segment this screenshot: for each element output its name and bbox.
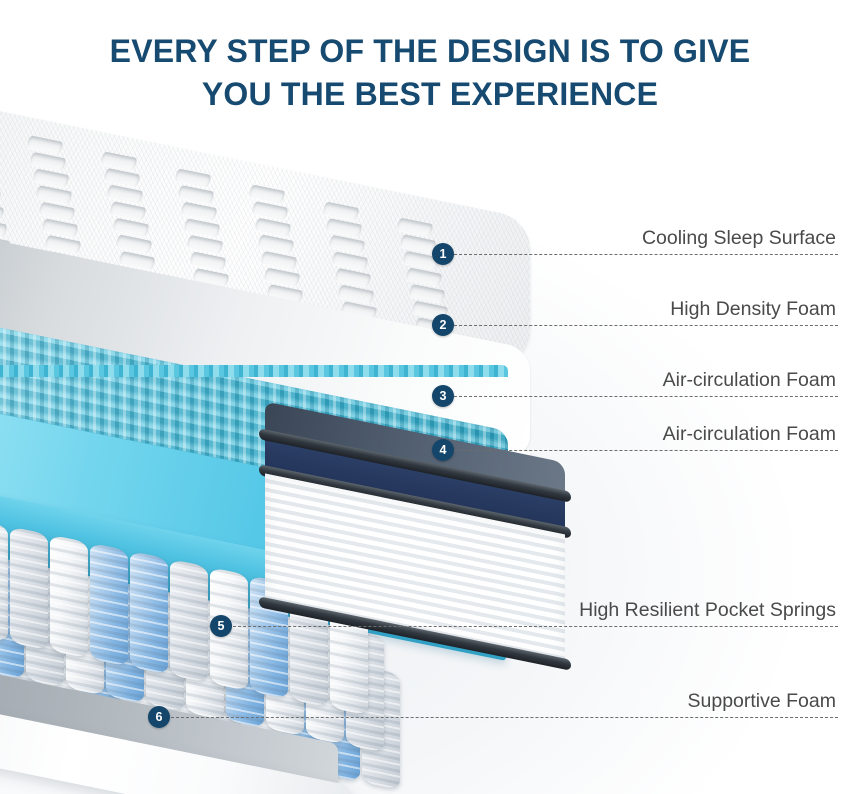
page-title-line-1: EVERY STEP OF THE DESIGN IS TO GIVE	[0, 30, 860, 73]
callout-label-3: Air-circulation Foam	[663, 369, 836, 392]
pocket-coil	[170, 559, 208, 683]
callout-label-6: Supportive Foam	[688, 690, 837, 713]
callout-leader-line	[449, 396, 838, 397]
callout-label-4: Air-circulation Foam	[663, 423, 836, 446]
infographic-page: EVERY STEP OF THE DESIGN IS TO GIVE YOU …	[0, 0, 860, 794]
callout-leader-line	[228, 626, 838, 627]
pocket-coil	[130, 551, 168, 675]
callout-leader-line	[449, 450, 838, 451]
mattress-illustration	[0, 140, 600, 794]
callout-label-5: High Resilient Pocket Springs	[579, 599, 836, 622]
pocket-coil	[50, 535, 88, 659]
foam-crest-edge	[0, 365, 508, 377]
page-title-line-2: YOU THE BEST EXPERIENCE	[0, 73, 860, 116]
callout-badge-4[interactable]: 4	[432, 439, 454, 461]
callout-badge-2[interactable]: 2	[432, 314, 454, 336]
callout-label-1: Cooling Sleep Surface	[642, 227, 836, 250]
callout-leader-line	[166, 717, 838, 718]
page-title: EVERY STEP OF THE DESIGN IS TO GIVE YOU …	[0, 30, 860, 116]
callout-leader-line	[449, 254, 838, 255]
callout-leader-line	[449, 325, 838, 326]
pocket-coil	[90, 543, 128, 667]
callout-badge-3[interactable]: 3	[432, 385, 454, 407]
pocket-coil	[0, 518, 8, 642]
pocket-coil	[10, 526, 48, 650]
callout-badge-6[interactable]: 6	[148, 706, 170, 728]
callout-badge-1[interactable]: 1	[432, 243, 454, 265]
callout-badge-5[interactable]: 5	[210, 615, 232, 637]
callout-label-2: High Density Foam	[670, 298, 836, 321]
